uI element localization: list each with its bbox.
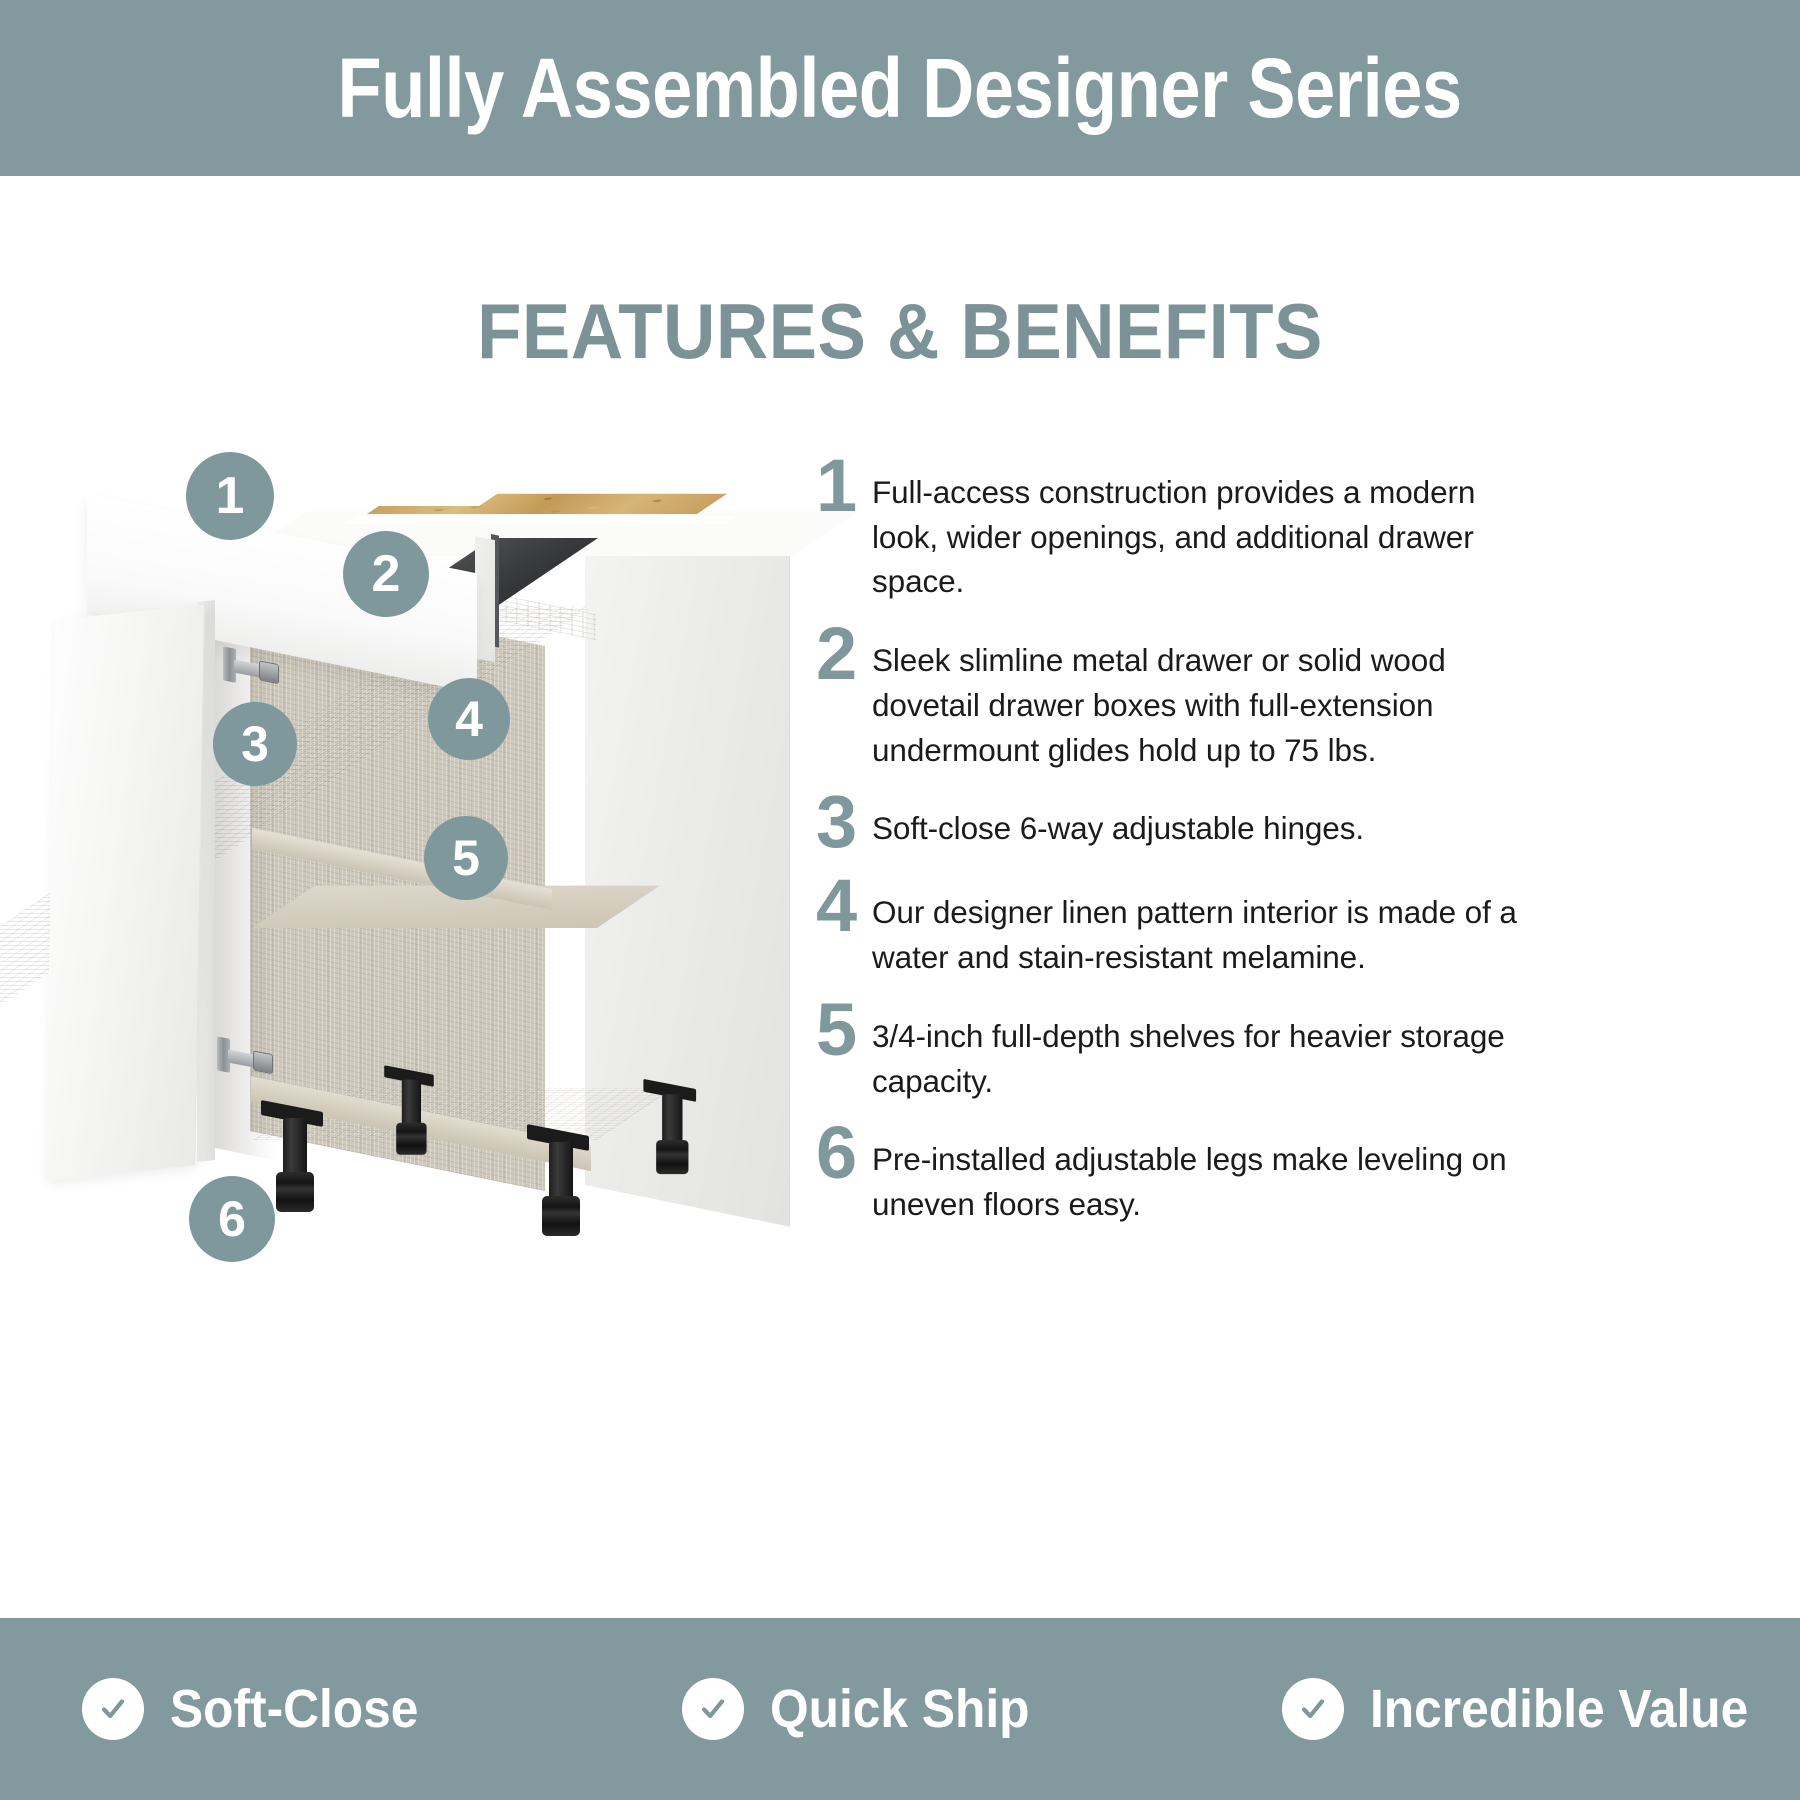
check-circle-icon [1282, 1678, 1344, 1740]
feature-number-3: 3 [800, 788, 872, 856]
leg-foot [656, 1140, 688, 1174]
header-bar: Fully Assembled Designer Series [0, 0, 1800, 176]
feature-number-6: 6 [800, 1119, 872, 1187]
feature-item-3: 3 Soft-close 6-way adjustable hinges. [800, 788, 1530, 856]
cabinet-top-front-lip [345, 516, 737, 524]
leg-foot [276, 1172, 314, 1212]
callout-badge-5[interactable]: 5 [424, 816, 508, 900]
leg-post [283, 1118, 307, 1180]
leg-post [662, 1094, 682, 1147]
check-circle-icon [682, 1678, 744, 1740]
feature-number-2: 2 [800, 620, 872, 688]
check-circle-icon [82, 1678, 144, 1740]
feature-number-1: 1 [800, 452, 872, 520]
feature-number-4: 4 [800, 872, 872, 940]
callout-badge-2[interactable]: 2 [343, 531, 429, 617]
feature-item-4: 4 Our designer linen pattern interior is… [800, 872, 1530, 979]
callout-badge-3[interactable]: 3 [213, 702, 297, 786]
leg-post [402, 1080, 421, 1130]
leg-foot [542, 1196, 580, 1236]
hinge-cup [259, 660, 279, 684]
footer-bar: Soft-Close Quick Ship Incredible Value [0, 1618, 1800, 1800]
section-title: FEATURES & BENEFITS [63, 286, 1737, 377]
footer-badge-quick-ship: Quick Ship [600, 1678, 1200, 1740]
feature-item-5: 5 3/4-inch full-depth shelves for heavie… [800, 996, 1530, 1103]
footer-label-quick-ship: Quick Ship [770, 1678, 1029, 1740]
feature-text-2: Sleek slimline metal drawer or solid woo… [872, 620, 1530, 772]
feature-text-3: Soft-close 6-way adjustable hinges. [872, 788, 1530, 851]
feature-number-5: 5 [800, 996, 872, 1064]
footer-badge-incredible-value: Incredible Value [1200, 1678, 1800, 1740]
feature-item-1: 1 Full-access construction provides a mo… [800, 452, 1530, 604]
drawer-front-top-edge [87, 491, 501, 506]
feature-text-4: Our designer linen pattern interior is m… [872, 872, 1530, 979]
hinge-cup [253, 1050, 273, 1074]
leg-foot [396, 1123, 426, 1155]
footer-label-soft-close: Soft-Close [170, 1678, 418, 1740]
leg-post [549, 1142, 573, 1204]
footer-label-incredible-value: Incredible Value [1370, 1678, 1748, 1740]
feature-text-1: Full-access construction provides a mode… [872, 452, 1530, 604]
drawer-front-side-edge [475, 536, 495, 662]
cabinet-door-open [45, 604, 205, 1181]
features-list: 1 Full-access construction provides a mo… [800, 452, 1530, 1243]
feature-text-6: Pre-installed adjustable legs make level… [872, 1119, 1530, 1226]
page-title: Fully Assembled Designer Series [338, 40, 1462, 137]
footer-badge-soft-close: Soft-Close [0, 1678, 600, 1740]
callout-badge-4[interactable]: 4 [428, 678, 510, 760]
feature-item-2: 2 Sleek slimline metal drawer or solid w… [800, 620, 1530, 772]
callout-badge-6[interactable]: 6 [189, 1176, 275, 1262]
feature-text-5: 3/4-inch full-depth shelves for heavier … [872, 996, 1530, 1103]
feature-item-6: 6 Pre-installed adjustable legs make lev… [800, 1119, 1530, 1226]
callout-badge-1[interactable]: 1 [186, 452, 274, 540]
